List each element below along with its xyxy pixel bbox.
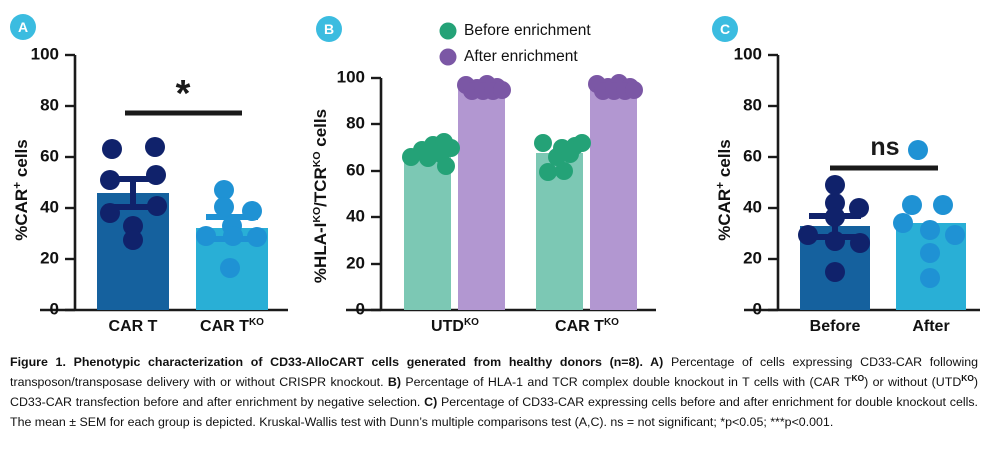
caption-text-2a: Percentage of HLA-1 and TCR complex doub…	[401, 375, 852, 389]
y-tick-label: 60	[346, 160, 365, 179]
figure-container: A 0 20 40 60 80 100	[0, 0, 988, 472]
caption-bold-2: B)	[388, 375, 401, 389]
data-points-cartko-after	[588, 74, 643, 100]
bar-utdko-before	[404, 154, 451, 310]
y-ticks	[768, 55, 778, 310]
y-tick-label: 100	[734, 44, 762, 63]
caption-bold-1: Figure 1. Phenotypic characterization of…	[10, 355, 663, 369]
y-tick-label: 60	[743, 146, 762, 165]
panel-b: B Before enrichment After enrichment	[300, 0, 660, 350]
y-tick-label: 60	[40, 146, 59, 165]
panel-c-chart: 0 20 40 60 80 100 %CAR+ cells	[660, 0, 988, 350]
y-tick-label: 40	[743, 197, 762, 216]
caption-text-2b: ) or without (UTD	[864, 375, 961, 389]
significance-annotation-a: *	[125, 73, 242, 115]
panel-a: A 0 20 40 60 80 100	[0, 0, 300, 350]
significance-label: *	[176, 73, 191, 115]
y-ticks	[65, 55, 75, 310]
y-tick-labels: 0 20 40 60 80 100	[337, 67, 365, 318]
legend-swatch-after	[440, 49, 457, 66]
y-tick-label: 80	[40, 95, 59, 114]
x-label-before: Before	[810, 318, 861, 335]
caption-sup-2a: KO	[852, 373, 865, 383]
y-tick-label: 20	[743, 248, 762, 267]
y-axis-title: %CAR+ cells	[713, 139, 734, 241]
y-tick-label: 20	[40, 248, 59, 267]
legend-swatch-before	[440, 23, 457, 40]
x-label-utdko: UTDKO	[431, 317, 479, 335]
x-label-after: After	[912, 318, 949, 335]
data-points-utdko-after	[457, 75, 511, 100]
y-tick-label: 0	[356, 299, 365, 318]
y-tick-label: 100	[31, 44, 59, 63]
caption-sup-2b: KO	[961, 373, 974, 383]
legend-label-before: Before enrichment	[464, 22, 591, 39]
y-tick-label: 40	[346, 206, 365, 225]
y-ticks	[371, 78, 381, 310]
legend: Before enrichment After enrichment	[440, 22, 592, 65]
y-tick-labels: 0 20 40 60 80 100	[31, 44, 59, 318]
y-tick-label: 0	[50, 299, 59, 318]
x-label-car-t-ko: CAR TKO	[200, 317, 264, 335]
x-label-cartko: CAR TKO	[555, 317, 619, 335]
bar-cartko-after	[590, 82, 637, 310]
y-tick-label: 0	[753, 299, 762, 318]
y-tick-label: 20	[346, 253, 365, 272]
y-tick-label: 100	[337, 67, 365, 86]
bar-utdko-after	[458, 82, 505, 310]
caption-bold-3: C)	[424, 395, 437, 409]
y-tick-label: 40	[40, 197, 59, 216]
y-tick-label: 80	[743, 95, 762, 114]
panel-a-chart: 0 20 40 60 80 100 %CAR+ cells	[0, 0, 300, 350]
figure-caption: Figure 1. Phenotypic characterization of…	[10, 352, 978, 433]
x-label-car-t: CAR T	[109, 318, 158, 335]
y-axis-title: %HLA-IKO/TCRKO cells	[311, 109, 330, 283]
significance-label: ns	[870, 133, 899, 161]
y-tick-label: 80	[346, 113, 365, 132]
panel-c: C 0 20 40 60 80 100 %CAR+ cells	[660, 0, 988, 350]
y-axis-title: %CAR+ cells	[10, 139, 31, 241]
panel-b-chart: Before enrichment After enrichment 0 20 …	[300, 0, 660, 350]
y-tick-labels: 0 20 40 60 80 100	[734, 44, 762, 318]
legend-label-after: After enrichment	[464, 48, 578, 65]
